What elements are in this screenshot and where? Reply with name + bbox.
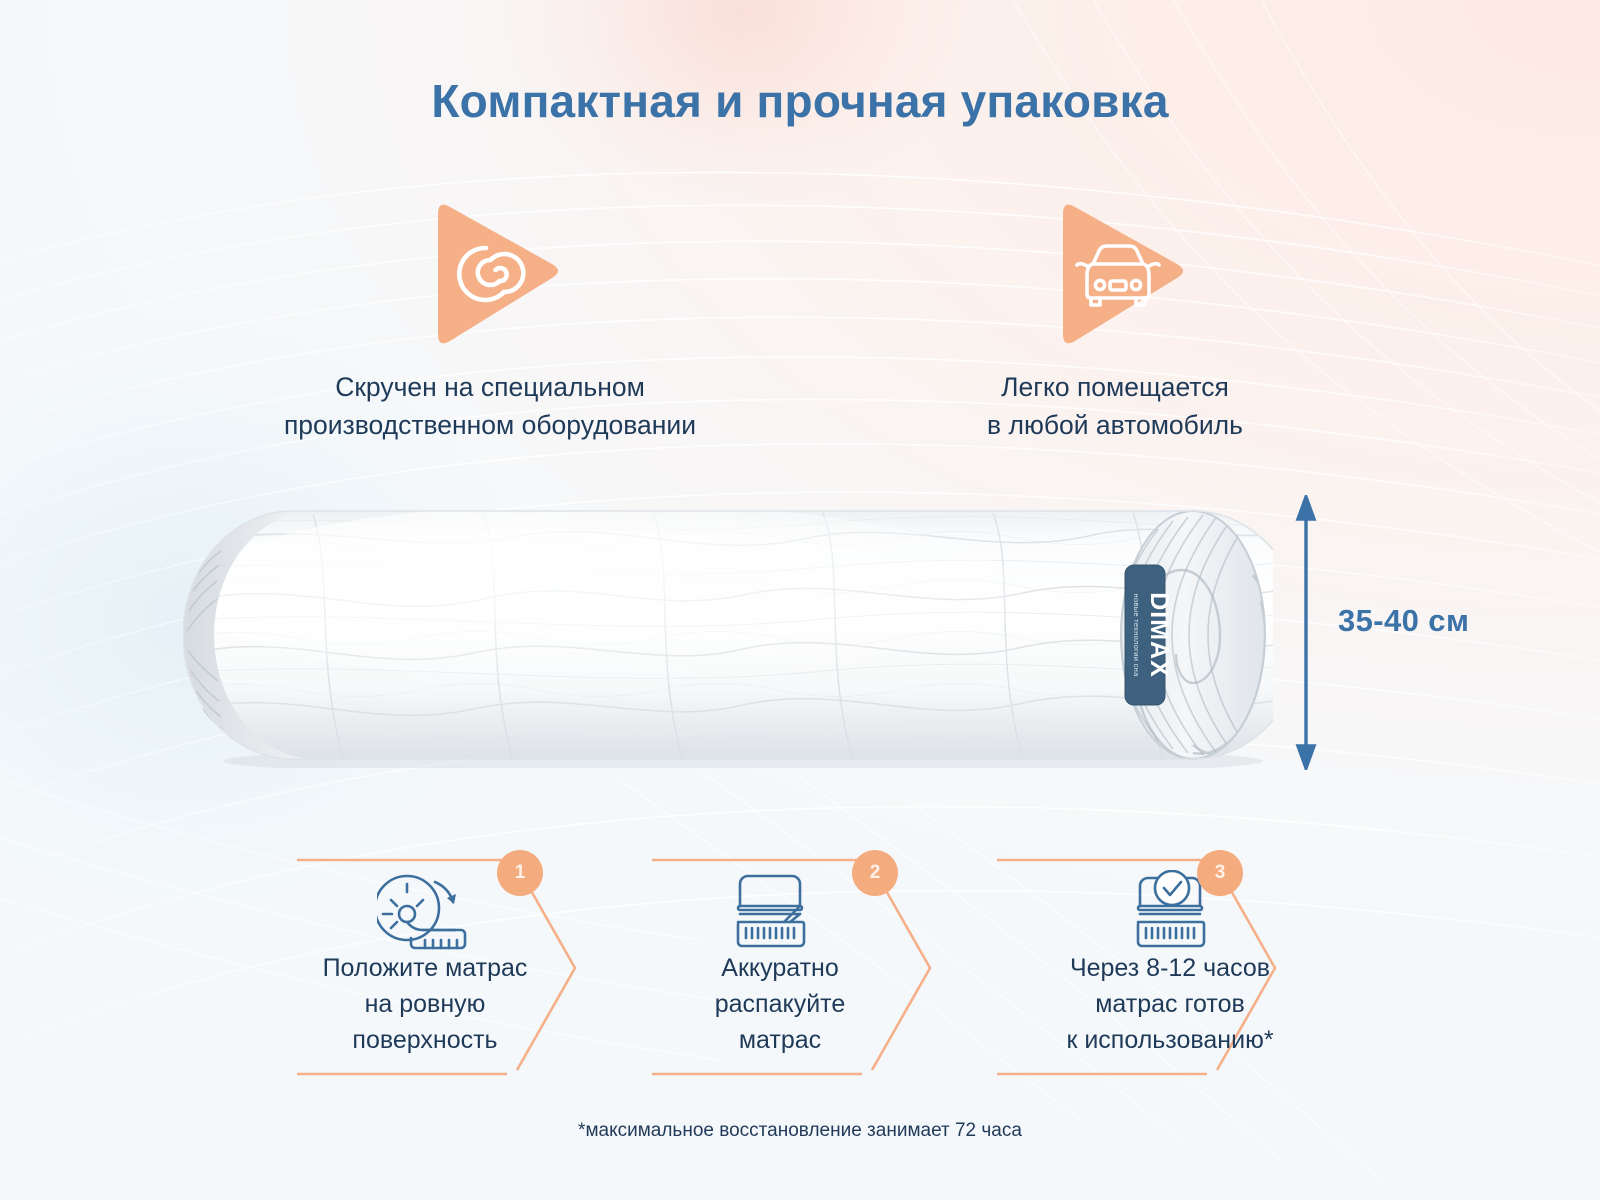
feature-caption: Скручен на специальном производственном … (200, 368, 780, 444)
step-2: 2 Аккуратно распакуйте матрас (640, 842, 980, 1092)
spiral-badge (410, 200, 570, 348)
step-number-badge: 1 (497, 850, 543, 896)
car-badge (1035, 200, 1195, 348)
mattress-ready-check-icon (975, 870, 1365, 954)
step-number-badge: 3 (1197, 850, 1243, 896)
step-number-badge: 2 (852, 850, 898, 896)
step-text: Аккуратно распакуйте матрас (620, 950, 940, 1058)
footnote: *максимальное восстановление занимает 72… (0, 1120, 1600, 1142)
steps-section: 1 Положите матрас на ровную поверхность (285, 842, 1295, 1092)
page-title: Компактная и прочная упаковка (0, 74, 1600, 128)
height-dimension: 35-40 см (1290, 495, 1590, 770)
feature-fits-any-car: Легко помещается в любой автомобиль (880, 200, 1350, 444)
step-1: 1 Положите матрас на ровную поверхность (285, 842, 625, 1092)
dimension-label: 35-40 см (1338, 603, 1469, 639)
svg-text:новые технологии сна: новые технологии сна (1132, 593, 1141, 677)
step-text: Положите матрас на ровную поверхность (265, 950, 585, 1058)
feature-rolled-on-equipment: Скручен на специальном производственном … (200, 200, 780, 444)
rolled-mattress-image: DIMAX новые технологии сна (183, 503, 1273, 768)
svg-text:DIMAX: DIMAX (1145, 592, 1173, 678)
step-3: 3 Через 8-12 часов матрас готов к исполь… (985, 842, 1325, 1092)
step-text: Через 8-12 часов матрас готов к использо… (975, 950, 1365, 1058)
feature-caption: Легко помещается в любой автомобиль (880, 368, 1350, 444)
